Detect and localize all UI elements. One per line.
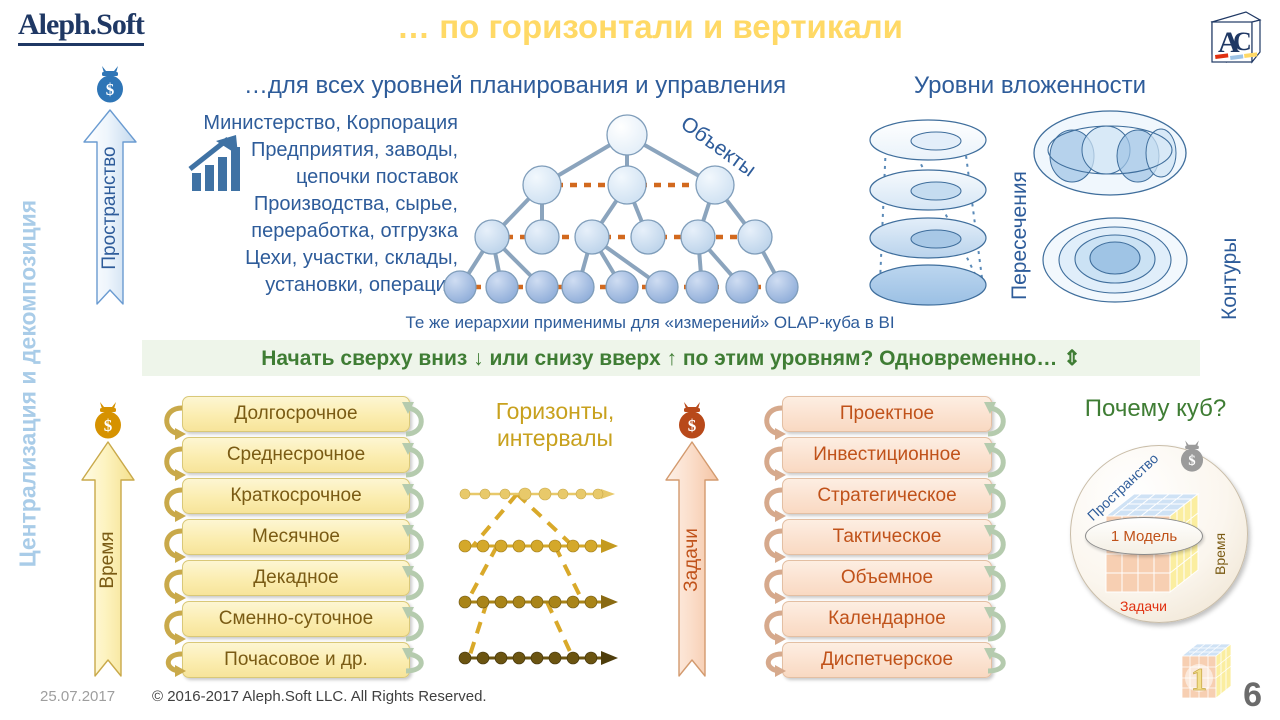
- hierarchy-line: Предприятия, заводы,: [148, 137, 458, 164]
- subtitle-planning-levels: …для всех уровней планирования и управле…: [170, 72, 860, 100]
- list-item[interactable]: Стратегическое: [782, 478, 992, 514]
- hierarchy-tree-diagram: [430, 105, 850, 310]
- horizons-title-line1: Горизонты,: [455, 398, 655, 425]
- label-intersections: Пересечения: [1008, 171, 1032, 300]
- contours-diagram: [1040, 212, 1190, 304]
- task-type-stack: Проектное Инвестиционное Стратегическое …: [782, 396, 992, 683]
- list-item[interactable]: Диспетчерское: [782, 642, 992, 678]
- list-item-label: Сменно-суточное: [219, 608, 373, 630]
- horizons-timeline-chart: [455, 480, 660, 675]
- list-item[interactable]: Тактическое: [782, 519, 992, 555]
- list-item[interactable]: Календарное: [782, 601, 992, 637]
- strategy-banner-text: Начать сверху вниз ↓ или снизу вверх ↑ п…: [261, 346, 1081, 371]
- list-item[interactable]: Объемное: [782, 560, 992, 596]
- time-arrow-label: Время: [97, 531, 119, 588]
- cube-model-label: 1 Модель: [1085, 517, 1203, 555]
- svg-text:C: C: [1233, 27, 1252, 56]
- olap-note: Те же иерархии применимы для «измерений»…: [150, 313, 1150, 333]
- footer-date: 25.07.2017: [40, 688, 115, 705]
- svg-text:$: $: [1188, 453, 1195, 469]
- hierarchy-line: Производства, сырье,: [148, 191, 458, 218]
- svg-text:$: $: [104, 416, 113, 435]
- brand-logo: Aleph.Soft: [18, 8, 144, 46]
- svg-text:$: $: [688, 416, 697, 435]
- hierarchy-line: установки, операции: [148, 272, 458, 299]
- list-item[interactable]: Краткосрочное: [182, 478, 410, 514]
- list-item-label: Инвестиционное: [813, 444, 961, 466]
- list-item[interactable]: Декадное: [182, 560, 410, 596]
- hierarchy-line: цепочки поставок: [148, 164, 458, 191]
- list-item[interactable]: Месячное: [182, 519, 410, 555]
- list-item-label: Декадное: [253, 567, 338, 589]
- slide-root: Aleph.Soft … по горизонтали и вертикали …: [0, 0, 1280, 720]
- hierarchy-text-block: Министерство, Корпорация Предприятия, за…: [148, 110, 458, 299]
- list-item[interactable]: Почасовое и др.: [182, 642, 410, 678]
- horizons-title-line2: интервалы: [455, 425, 655, 452]
- hierarchy-line: Министерство, Корпорация: [148, 110, 458, 137]
- page-title: … по горизонтали и вертикали: [300, 8, 1000, 46]
- list-item-label: Стратегическое: [817, 485, 956, 507]
- time-horizon-stack: Долгосрочное Среднесрочное Краткосрочное…: [182, 396, 410, 683]
- money-bag-icon-time: $: [88, 398, 128, 440]
- list-item[interactable]: Долгосрочное: [182, 396, 410, 432]
- list-item-label: Календарное: [828, 608, 946, 630]
- list-item[interactable]: Сменно-суточное: [182, 601, 410, 637]
- small-cube-icon: 1: [1178, 640, 1240, 706]
- svg-text:$: $: [106, 80, 115, 99]
- strategy-banner: Начать сверху вниз ↓ или снизу вверх ↑ п…: [142, 340, 1200, 376]
- side-banner-label: Централизация и декомпозиция: [15, 124, 42, 644]
- down-chain-arrows-peach: [756, 398, 786, 680]
- time-arrow: Время: [80, 440, 136, 680]
- down-chain-arrows-yellow: [156, 398, 186, 680]
- cube-logo-icon: A C: [1206, 6, 1266, 68]
- money-bag-icon-space: $: [90, 62, 130, 104]
- list-item-label: Проектное: [840, 403, 934, 425]
- label-contours: Контуры: [1218, 238, 1242, 320]
- tasks-arrow-label: Задачи: [681, 528, 703, 592]
- space-arrow: Пространство: [82, 108, 138, 308]
- list-item[interactable]: Инвестиционное: [782, 437, 992, 473]
- page-number: 6: [1243, 676, 1262, 715]
- up-chain-arrows-peach: [984, 398, 1014, 680]
- list-item[interactable]: Проектное: [782, 396, 992, 432]
- cube-axis-time: Время: [1212, 533, 1228, 575]
- space-arrow-label: Пространство: [99, 146, 121, 269]
- footer-copyright: © 2016-2017 Aleph.Soft LLC. All Rights R…: [152, 688, 487, 705]
- hierarchy-line: Цехи, участки, склады,: [148, 245, 458, 272]
- list-item-label: Долгосрочное: [234, 403, 357, 425]
- list-item[interactable]: Среднесрочное: [182, 437, 410, 473]
- svg-text:1: 1: [1191, 661, 1207, 697]
- list-item-label: Объемное: [841, 567, 933, 589]
- intersections-diagram: [1030, 108, 1190, 198]
- horizons-title: Горизонты, интервалы: [455, 398, 655, 452]
- money-bag-icon-tasks: $: [672, 398, 712, 440]
- nesting-levels-diagram: [866, 110, 1006, 305]
- up-chain-arrows-yellow: [402, 398, 432, 680]
- tasks-arrow: Задачи: [664, 440, 720, 680]
- list-item-label: Тактическое: [833, 526, 942, 548]
- list-item-label: Диспетчерское: [821, 649, 953, 671]
- list-item-label: Краткосрочное: [230, 485, 361, 507]
- list-item-label: Месячное: [252, 526, 340, 548]
- list-item-label: Почасовое и др.: [224, 649, 368, 671]
- subtitle-nesting-levels: Уровни вложенности: [870, 72, 1190, 100]
- why-cube-title: Почему куб?: [1048, 395, 1263, 423]
- hierarchy-line: переработка, отгрузка: [148, 218, 458, 245]
- list-item-label: Среднесрочное: [227, 444, 365, 466]
- money-bag-icon-cube: $: [1175, 437, 1209, 473]
- cube-model-text: 1 Модель: [1111, 528, 1177, 545]
- cube-axis-tasks: Задачи: [1096, 598, 1191, 614]
